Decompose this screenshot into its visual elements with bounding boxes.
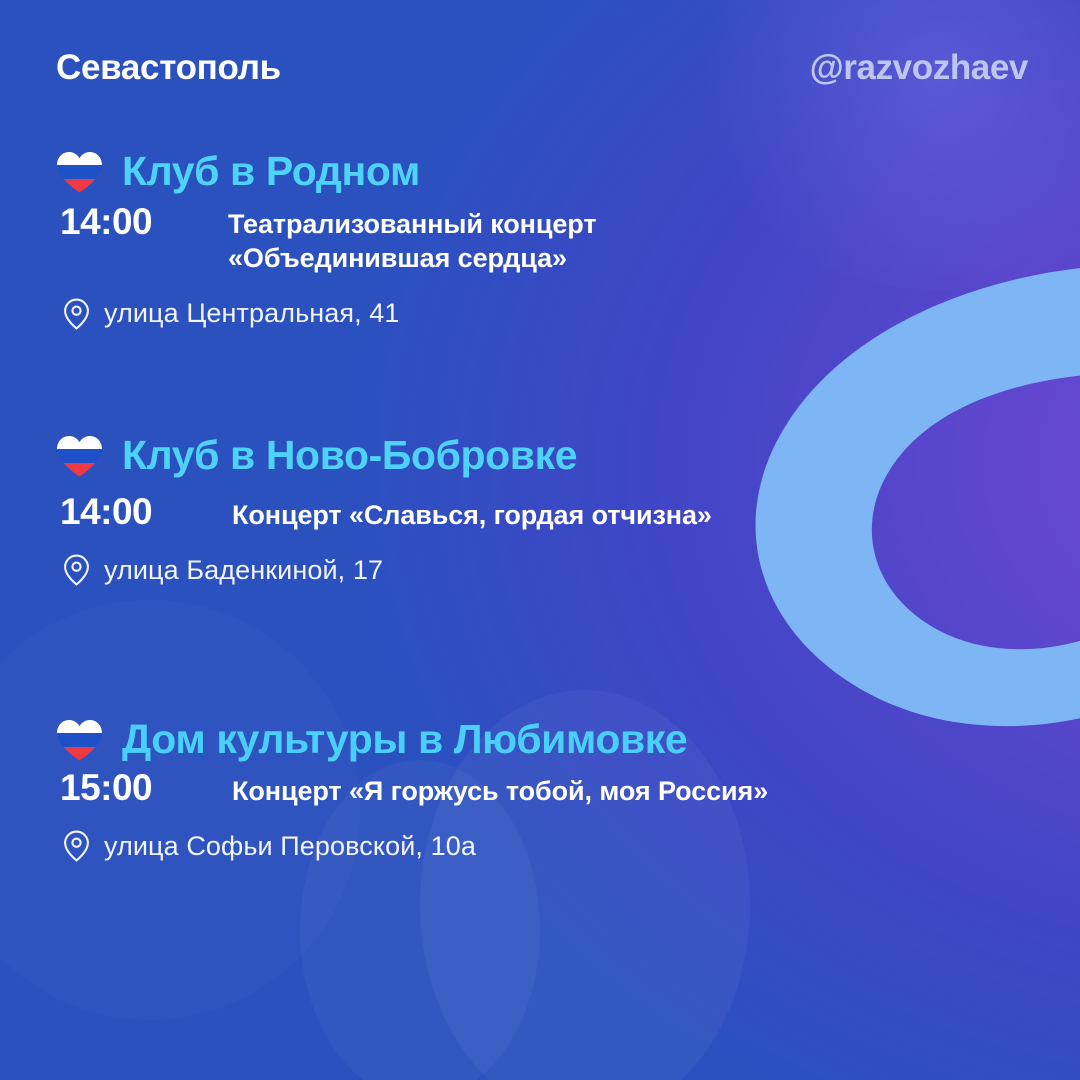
- address-row: улица Софьи Перовской, 10а: [56, 830, 1056, 862]
- event-row: 14:00 Концерт «Славься, гордая отчизна»: [56, 491, 1056, 532]
- venue-header: Клуб в Родном: [56, 148, 1056, 195]
- venue-name: Дом культуры в Любимовке: [122, 716, 687, 763]
- venue-block: Дом культуры в Любимовке 15:00 Концерт «…: [56, 716, 1056, 862]
- heart-flag-icon: [56, 435, 103, 477]
- page-title: Севастополь: [56, 48, 281, 88]
- address-text: улица Софьи Перовской, 10а: [104, 831, 476, 862]
- venue-block: Клуб в Ново-Бобровке 14:00 Концерт «Слав…: [56, 432, 1056, 586]
- event-title-line-2: «Объединившая сердца»: [228, 241, 596, 275]
- event-row: 14:00 Театрализованный концерт «Объедини…: [56, 201, 1056, 276]
- event-time: 15:00: [60, 767, 232, 808]
- venue-name: Клуб в Родном: [122, 148, 420, 195]
- venue-block: Клуб в Родном 14:00 Театрализованный кон…: [56, 148, 1056, 330]
- address-row: улица Баденкиной, 17: [56, 554, 1056, 586]
- event-title: Театрализованный концерт «Объединившая с…: [228, 201, 596, 276]
- event-title-line-1: Театрализованный концерт: [228, 207, 596, 241]
- poster-canvas: Севастополь @razvozhaev: [0, 0, 1080, 1080]
- event-time: 14:00: [60, 201, 228, 242]
- event-title: Концерт «Славься, гордая отчизна»: [232, 491, 712, 532]
- map-pin-icon: [62, 554, 91, 586]
- map-pin-icon: [62, 298, 91, 330]
- heart-flag-icon: [56, 151, 103, 193]
- venue-name: Клуб в Ново-Бобровке: [122, 432, 577, 479]
- event-time: 14:00: [60, 491, 232, 532]
- event-title: Концерт «Я горжусь тобой, моя Россия»: [232, 767, 768, 808]
- heart-flag-icon: [56, 719, 103, 761]
- venue-header: Клуб в Ново-Бобровке: [56, 432, 1056, 479]
- header: Севастополь @razvozhaev: [0, 48, 1080, 88]
- social-handle: @razvozhaev: [810, 48, 1028, 88]
- address-row: улица Центральная, 41: [56, 298, 1056, 330]
- event-row: 15:00 Концерт «Я горжусь тобой, моя Росс…: [56, 767, 1056, 808]
- address-text: улица Баденкиной, 17: [104, 555, 383, 586]
- venue-header: Дом культуры в Любимовке: [56, 716, 1056, 763]
- map-pin-icon: [62, 830, 91, 862]
- address-text: улица Центральная, 41: [104, 298, 400, 329]
